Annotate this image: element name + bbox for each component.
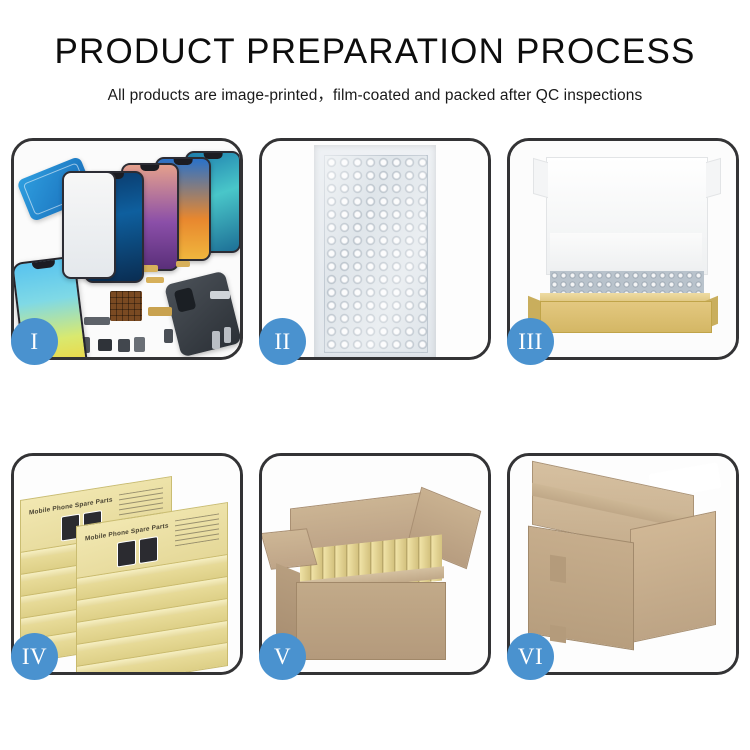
step-badge-4: IV <box>11 633 58 680</box>
process-step-card-2: II <box>259 138 491 360</box>
spare-part <box>164 329 173 343</box>
process-step-grid: I II III <box>11 138 739 675</box>
infographic-page: PRODUCT PREPARATION PROCESS All products… <box>0 0 750 750</box>
sealed-carton-front-panel <box>528 526 634 651</box>
step-badge-1: I <box>11 318 58 365</box>
process-step-card-6: VI <box>507 453 739 675</box>
page-subtitle: All products are image-printed，film-coat… <box>0 83 750 105</box>
step-badge-2: II <box>259 318 306 365</box>
box-stack: Mobile Phone Spare Parts <box>16 462 240 668</box>
carton-front-panel <box>296 582 446 660</box>
box-label-phone-image <box>117 540 136 568</box>
spare-part <box>134 337 145 352</box>
spare-part <box>176 261 190 267</box>
process-step-card-3: III <box>507 138 739 360</box>
sealed-carton-right-panel <box>630 511 716 643</box>
spare-part <box>224 327 231 343</box>
tempered-glass-icon <box>62 171 116 279</box>
spare-part <box>210 291 230 299</box>
process-step-card-5: V <box>259 453 491 675</box>
spare-part <box>146 277 164 283</box>
carton-tab <box>550 625 566 644</box>
carton-tab <box>550 555 566 584</box>
bubble-wrap-gloss <box>324 155 426 351</box>
step-badge-5: V <box>259 633 306 680</box>
inner-box-front <box>540 301 712 333</box>
spare-part <box>98 339 112 351</box>
box-label-phone-image <box>139 536 158 564</box>
spare-part <box>118 339 130 352</box>
spare-part <box>142 265 158 272</box>
page-title: PRODUCT PREPARATION PROCESS <box>0 34 750 69</box>
step-badge-6: VI <box>507 633 554 680</box>
process-step-card-4: Mobile Phone Spare Parts <box>11 453 243 675</box>
process-step-card-1: I <box>11 138 243 360</box>
spare-part <box>212 331 220 349</box>
header: PRODUCT PREPARATION PROCESS All products… <box>0 0 750 105</box>
box-label-spec-lines <box>175 513 219 546</box>
spare-part <box>84 317 110 325</box>
spare-part <box>148 307 172 316</box>
step-badge-3: III <box>507 318 554 365</box>
chip-board-part <box>110 291 142 321</box>
